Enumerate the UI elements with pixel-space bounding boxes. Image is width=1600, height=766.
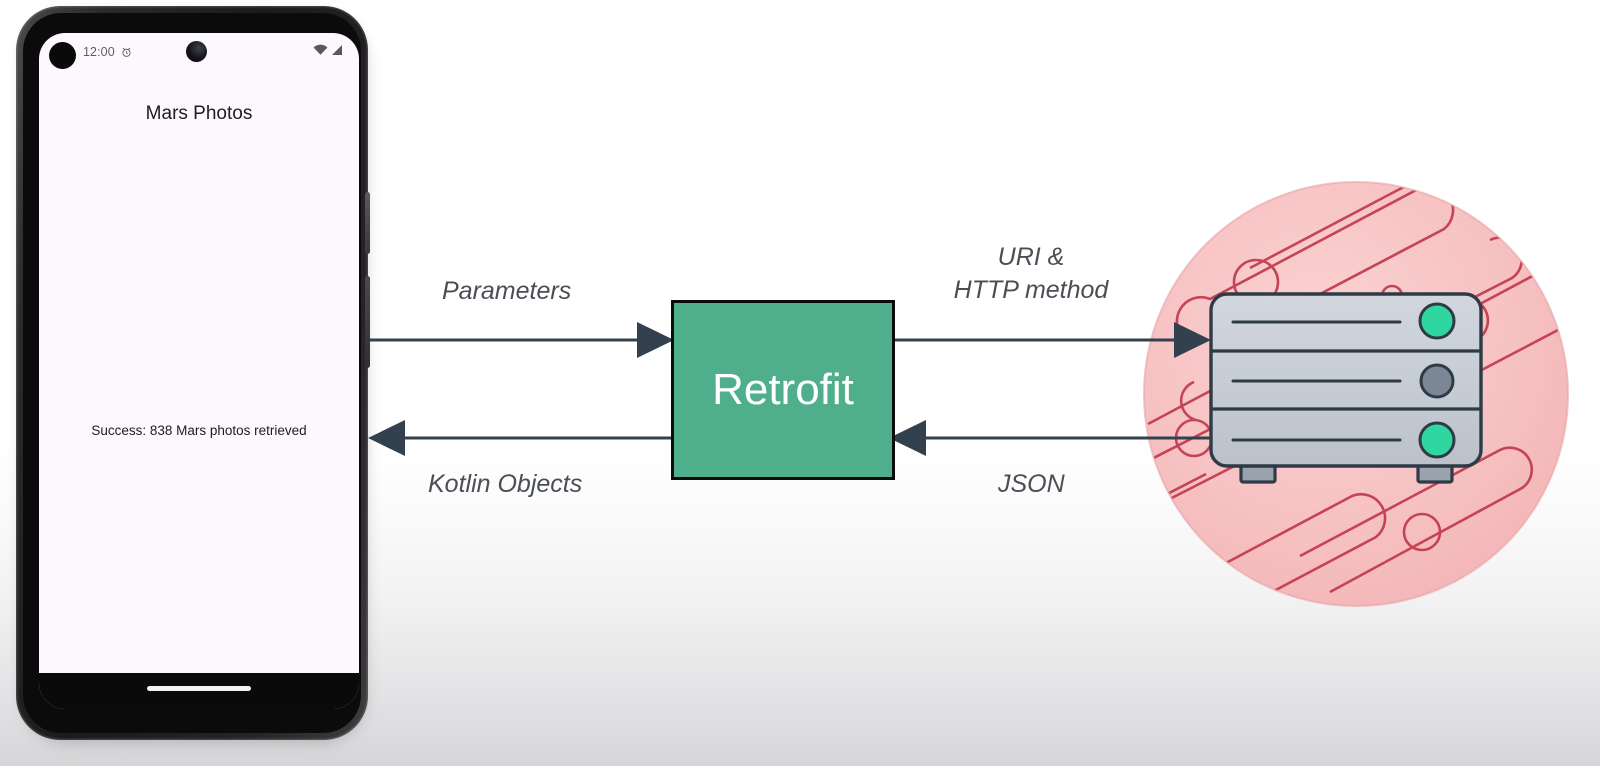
status-light-bottom [1420,423,1454,457]
cellular-signal-icon [331,44,343,56]
app-title: Mars Photos [39,103,359,125]
arrow-response-to-retrofit [889,420,1211,456]
status-bar: 12:00 [39,33,359,75]
arrow-request-to-server [895,322,1211,358]
flow-label-uri-http-method: URI & HTTP method [946,241,1116,307]
arrow-request-to-retrofit [370,322,674,358]
flow-label-uri-line1: URI & [946,241,1116,274]
notification-dot-icon [49,42,76,69]
status-light-middle [1421,365,1453,397]
flow-label-json: JSON [998,470,1065,499]
home-gesture-pill[interactable] [147,686,251,691]
phone-screen[interactable]: 12:00 [39,33,359,709]
status-light-top [1420,304,1454,338]
front-camera-punch-hole [186,41,207,62]
flow-label-kotlin-objects: Kotlin Objects [428,470,582,499]
arrow-response-to-phone [368,420,671,456]
retrofit-node-label: Retrofit [712,368,854,412]
circuit-pattern [1130,152,1600,628]
android-phone-mockup: 12:00 [16,6,368,748]
alarm-icon [121,46,132,58]
status-icons [313,44,343,56]
server-rack-icon [1211,294,1481,482]
power-button[interactable] [365,192,370,254]
gesture-nav-bar [39,673,359,709]
retrofit-node: Retrofit [671,300,895,480]
flow-label-parameters: Parameters [442,277,571,306]
result-status-text: Success: 838 Mars photos retrieved [39,423,359,438]
wifi-icon [313,44,328,56]
phone-frame: 12:00 [16,6,368,740]
flow-label-uri-line2: HTTP method [946,274,1116,307]
server-circle-backdrop [1130,152,1600,628]
phone-bezel: 12:00 [23,13,361,733]
volume-rocker[interactable] [365,276,370,368]
status-time: 12:00 [83,45,115,59]
screenshot-canvas: 12:00 [0,0,1600,766]
